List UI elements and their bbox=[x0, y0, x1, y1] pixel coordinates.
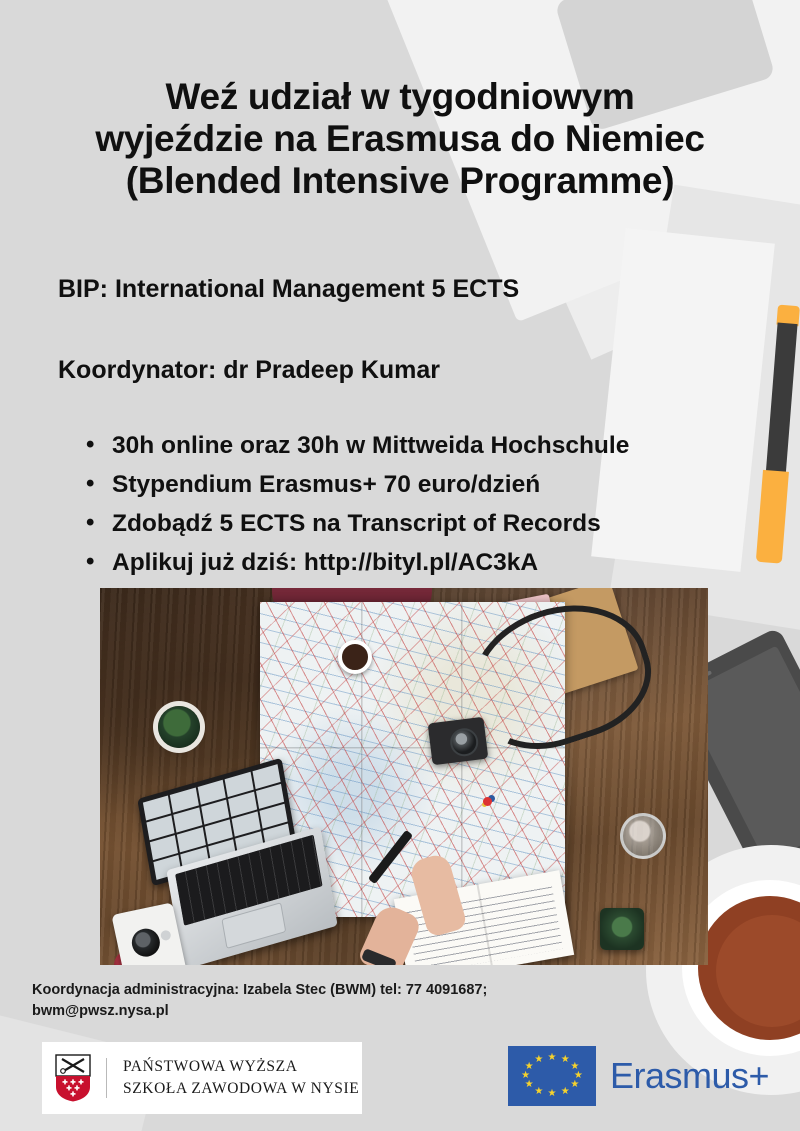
erasmus-wordmark: Erasmus+ bbox=[610, 1055, 769, 1097]
erasmus-plus-logo: ★★★★★★★★★★★★ Erasmus+ bbox=[508, 1046, 769, 1106]
contact-line-2[interactable]: bwm@pwsz.nysa.pl bbox=[32, 1001, 632, 1022]
photo-water-glass bbox=[620, 813, 666, 859]
title-line-1: Weź udział w tygodniowym bbox=[0, 76, 800, 118]
marker-lower-body bbox=[756, 470, 789, 564]
photo-cactus-plant-right bbox=[600, 908, 644, 950]
marker-body bbox=[766, 323, 798, 474]
administrative-contact: Koordynacja administracyjna: Izabela Ste… bbox=[32, 980, 632, 1022]
eu-flag-star: ★ bbox=[525, 1080, 534, 1090]
map-pins bbox=[483, 797, 492, 806]
decor-coffee-highlight bbox=[716, 915, 800, 1027]
university-logo: PAŃSTWOWA WYŻSZA SZKOŁA ZAWODOWA W NYSIE bbox=[42, 1042, 362, 1114]
contact-line-1: Koordynacja administracyjna: Izabela Ste… bbox=[32, 980, 632, 1001]
program-line: BIP: International Management 5 ECTS bbox=[58, 275, 519, 304]
marker-cap bbox=[776, 305, 800, 327]
travel-planning-photo bbox=[100, 588, 708, 965]
eu-flag-star: ★ bbox=[534, 1087, 543, 1097]
notebook-spine bbox=[477, 884, 494, 965]
logo-divider bbox=[106, 1058, 107, 1098]
details-list: 30h online oraz 30h w Mittweida Hochschu… bbox=[86, 432, 629, 588]
university-name-line-1: PAŃSTWOWA WYŻSZA bbox=[123, 1056, 359, 1078]
list-item: 30h online oraz 30h w Mittweida Hochschu… bbox=[86, 432, 629, 460]
decor-coffee-liquid bbox=[698, 896, 800, 1040]
eu-flag-star: ★ bbox=[561, 1087, 570, 1097]
university-name: PAŃSTWOWA WYŻSZA SZKOŁA ZAWODOWA W NYSIE bbox=[123, 1056, 359, 1100]
list-item: Stypendium Erasmus+ 70 euro/dzień bbox=[86, 471, 629, 499]
eu-flag-icon: ★★★★★★★★★★★★ bbox=[508, 1046, 596, 1106]
eu-flag-star: ★ bbox=[525, 1062, 534, 1072]
poster-canvas: Weź udział w tygodniowym wyjeździe na Er… bbox=[0, 0, 800, 1131]
title-line-2: wyjeździe na Erasmusa do Niemiec bbox=[0, 118, 800, 160]
coordinator-line: Koordynator: dr Pradeep Kumar bbox=[58, 356, 440, 385]
decor-marker-pen bbox=[756, 304, 800, 560]
eu-flag-star: ★ bbox=[548, 1089, 557, 1099]
eu-flag-star: ★ bbox=[570, 1080, 579, 1090]
photo-camera bbox=[428, 717, 489, 766]
decor-paper-sheet-right-back bbox=[609, 185, 800, 636]
list-item-application-link[interactable]: Aplikuj już dziś: http://bityl.pl/AC3kA bbox=[86, 549, 629, 577]
photo-succulent-plant-left bbox=[158, 706, 200, 748]
eu-flag-star: ★ bbox=[548, 1053, 557, 1063]
photo-coffee-mug bbox=[338, 640, 372, 674]
eu-flag-star: ★ bbox=[521, 1071, 530, 1081]
university-crest-icon bbox=[54, 1054, 92, 1102]
title-line-3: (Blended Intensive Programme) bbox=[0, 160, 800, 202]
list-item: Zdobądź 5 ECTS na Transcript of Records bbox=[86, 510, 629, 538]
university-name-line-2: SZKOŁA ZAWODOWA W NYSIE bbox=[123, 1078, 359, 1100]
eu-flag-star: ★ bbox=[534, 1055, 543, 1065]
page-title: Weź udział w tygodniowym wyjeździe na Er… bbox=[0, 76, 800, 201]
eu-flag-star: ★ bbox=[561, 1055, 570, 1065]
